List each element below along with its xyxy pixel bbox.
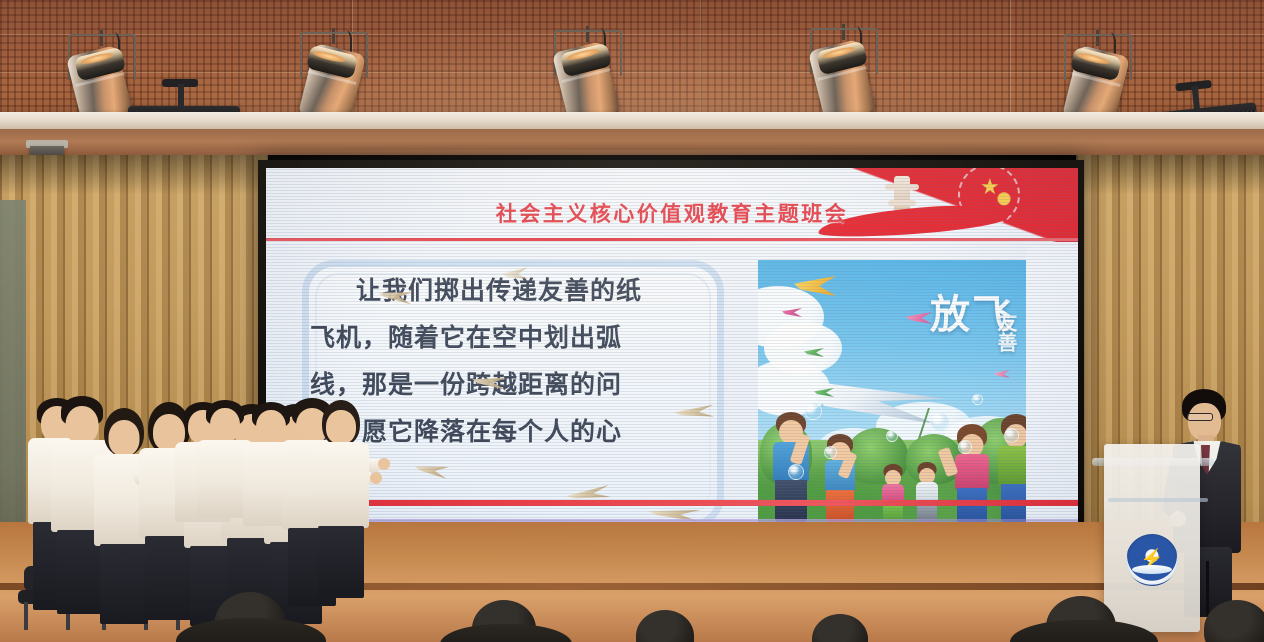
slide-title: 社会主义核心价值观教育主题班会	[266, 198, 1078, 228]
ceiling-beam	[0, 112, 1264, 129]
lectern-rail	[1108, 498, 1208, 502]
student	[306, 400, 376, 596]
ceiling-lip	[0, 129, 1264, 155]
slide-right-margin	[1026, 246, 1078, 542]
paper-plane-icon	[906, 312, 932, 324]
slide-illustration: 放飞 友善	[758, 260, 1026, 528]
illustration-child	[876, 464, 910, 522]
illustration-child	[816, 434, 864, 522]
audience-foreground	[0, 580, 1264, 642]
auditorium-photo: ★ 社会主义核心价值观教育主题班会 让我们掷出传递友善的纸 飞机，随着它在空中划…	[0, 0, 1264, 642]
glasses-icon	[1187, 413, 1213, 421]
paper-plane-icon	[994, 370, 1010, 378]
school-emblem-icon: ⚡	[1126, 534, 1178, 586]
illustration-child	[910, 462, 944, 522]
slide-red-band	[266, 500, 1078, 506]
slide-body-line-2: 飞机，随着它在空中划出弧	[310, 315, 718, 362]
title-divider	[266, 238, 1078, 241]
illustration-subtitle: 友善	[992, 312, 1018, 352]
